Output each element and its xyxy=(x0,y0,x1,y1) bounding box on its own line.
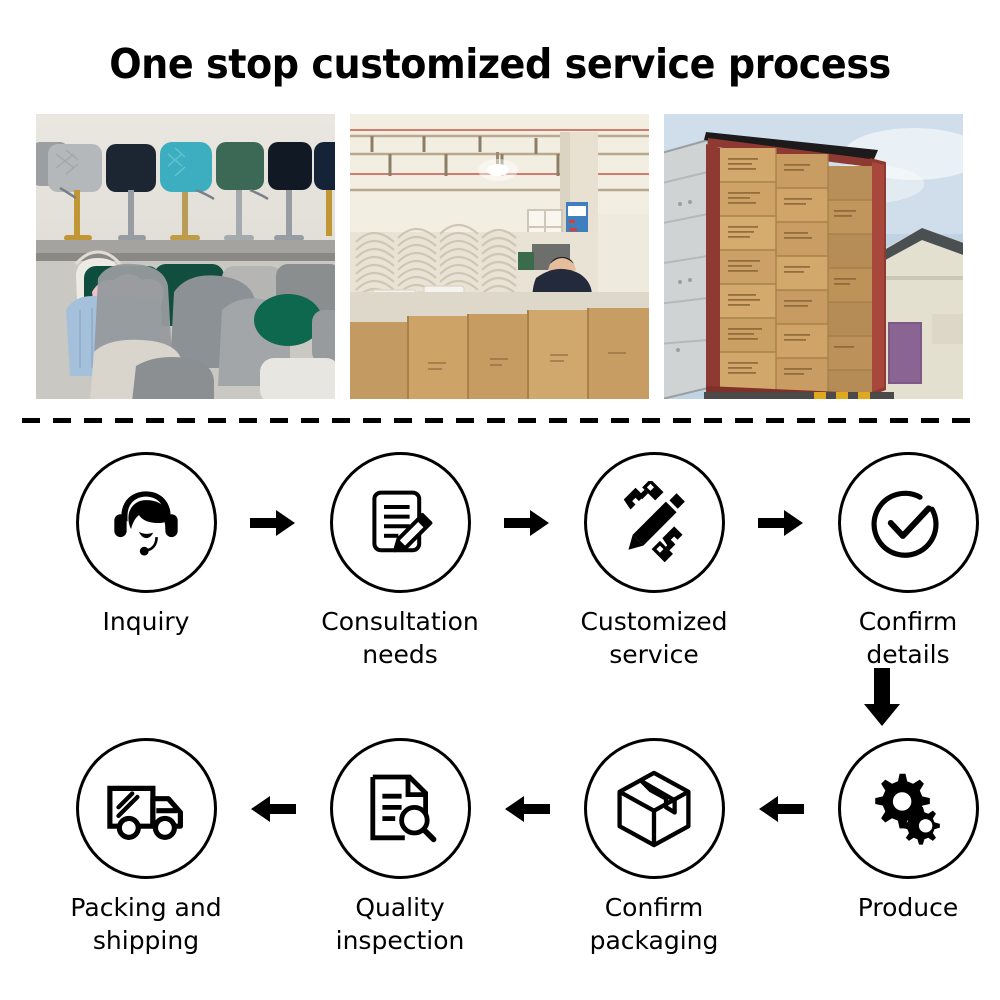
process-step-inquiry[interactable]: Inquiry xyxy=(48,452,244,638)
arrow-right-icon xyxy=(752,452,810,593)
arrow-left-icon xyxy=(752,738,810,879)
step-circle xyxy=(838,738,979,879)
process-step-customized-service[interactable]: Customized service xyxy=(556,452,752,671)
step-circle xyxy=(76,452,217,593)
arrow-left-icon xyxy=(498,738,556,879)
document-search-icon xyxy=(360,769,440,849)
step-label: Packing and shipping xyxy=(70,891,221,957)
document-pencil-icon xyxy=(360,483,440,563)
container-loading-photo xyxy=(664,114,963,399)
process-flow-row-top: Inquiry Consultation needs xyxy=(0,452,1000,671)
process-step-confirm-packaging[interactable]: Confirm packaging xyxy=(556,738,752,957)
step-label: Confirm packaging xyxy=(590,891,719,957)
process-step-packing-and-shipping[interactable]: Packing and shipping xyxy=(48,738,244,957)
arrow-left-icon xyxy=(244,738,302,879)
step-label: Inquiry xyxy=(103,605,190,638)
process-flow-row-bottom: Packing and shipping Quality i xyxy=(0,738,1000,957)
delivery-truck-icon xyxy=(103,766,189,852)
arrow-down-icon xyxy=(861,668,903,728)
process-step-quality-inspection[interactable]: Quality inspection xyxy=(302,738,498,957)
page-title: One stop customized service process xyxy=(35,38,965,90)
headset-operator-icon xyxy=(102,479,190,567)
check-circle-icon xyxy=(865,480,951,566)
package-box-icon xyxy=(611,766,697,852)
step-circle xyxy=(330,738,471,879)
gears-icon xyxy=(866,767,950,851)
arrow-right-icon xyxy=(244,452,302,593)
step-circle xyxy=(584,452,725,593)
section-divider xyxy=(22,418,978,423)
process-step-produce[interactable]: Produce xyxy=(810,738,1000,924)
step-label: Customized service xyxy=(580,605,727,671)
photo-strip xyxy=(36,114,964,399)
step-circle xyxy=(330,452,471,593)
step-label: Confirm details xyxy=(859,605,958,671)
step-label: Consultation needs xyxy=(321,605,478,671)
step-label: Quality inspection xyxy=(336,891,465,957)
arrow-right-icon xyxy=(498,452,556,593)
step-circle xyxy=(584,738,725,879)
showroom-chairs-photo xyxy=(36,114,335,399)
factory-packing-photo xyxy=(350,114,649,399)
step-label: Produce xyxy=(858,891,959,924)
step-circle xyxy=(838,452,979,593)
pencil-ruler-icon xyxy=(612,481,696,565)
process-step-confirm-details[interactable]: Confirm details xyxy=(810,452,1000,671)
process-step-consultation-needs[interactable]: Consultation needs xyxy=(302,452,498,671)
step-circle xyxy=(76,738,217,879)
